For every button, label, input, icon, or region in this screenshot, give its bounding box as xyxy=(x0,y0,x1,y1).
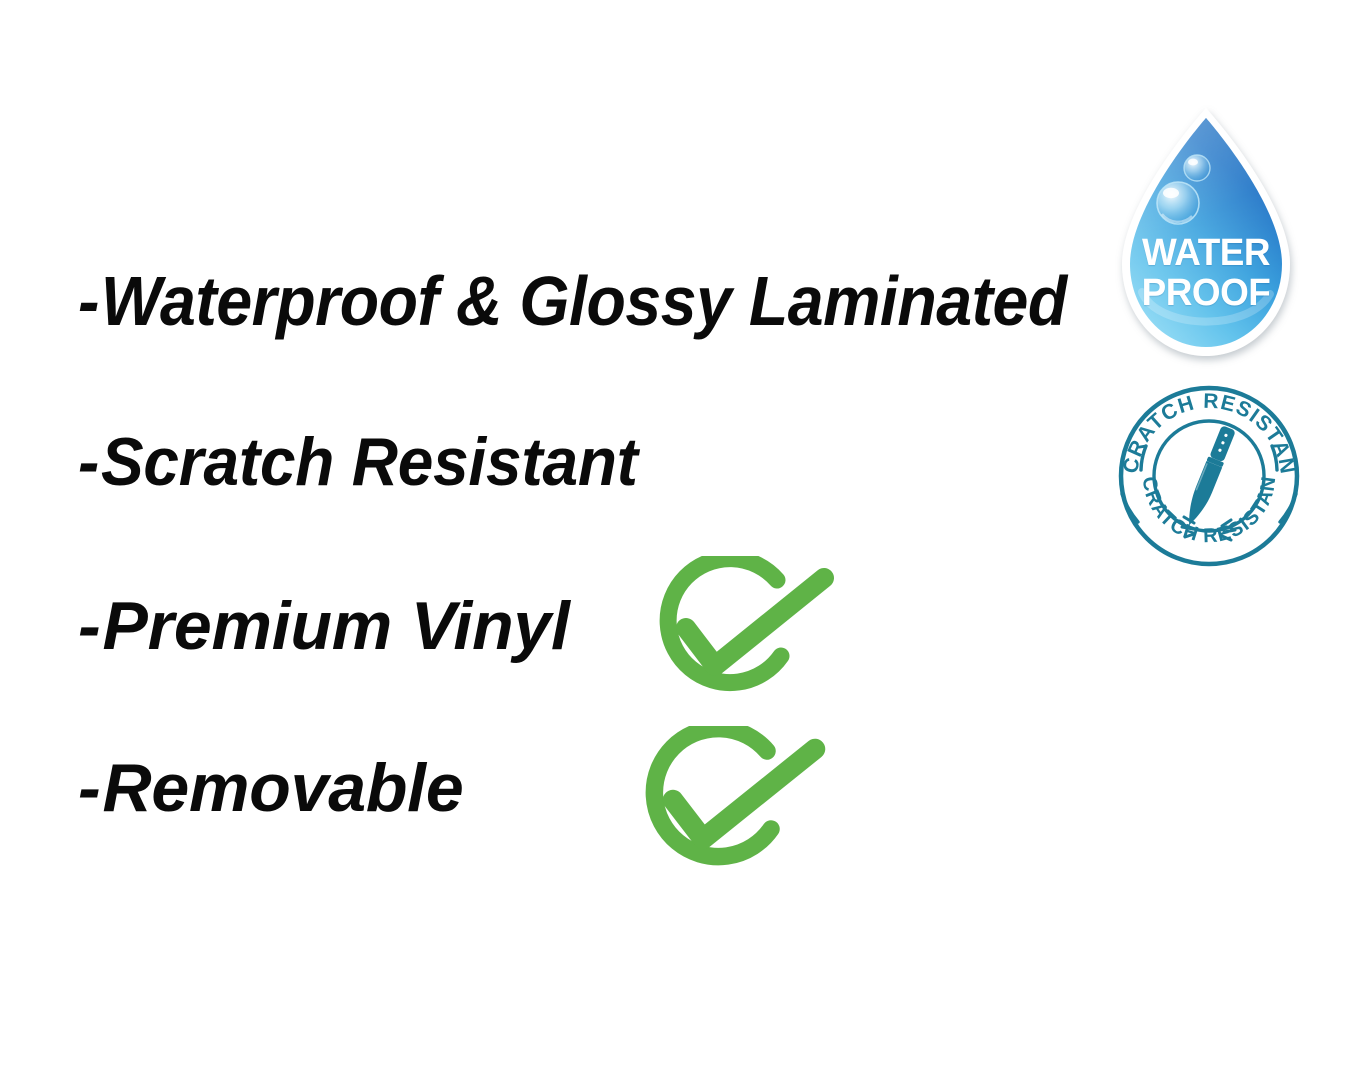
water-bubble-icon xyxy=(1184,155,1210,181)
feature-bullet-dash: - xyxy=(78,592,100,660)
knife-icon xyxy=(1182,425,1237,529)
feature-label: Waterproof & Glossy Laminated xyxy=(101,262,1067,340)
feature-item-removable: -Removable xyxy=(78,754,463,822)
waterproof-badge: WATER PROOF xyxy=(1106,104,1306,372)
feature-item-waterproof-glossy-laminated: -Waterproof & Glossy Laminated xyxy=(78,266,1067,336)
check-circle-icon-removable xyxy=(632,726,828,882)
water-bubble-icon xyxy=(1157,182,1199,224)
feature-item-scratch-resistant: -Scratch Resistant xyxy=(78,428,638,496)
feature-list: -Waterproof & Glossy Laminated -Scratch … xyxy=(0,0,1100,1080)
feature-bullet-dash: - xyxy=(78,266,99,336)
check-circle-icon xyxy=(646,556,836,708)
knife-stamp-icon: SCRATCH RESISTANT SCRATCH RESISTANT xyxy=(1114,382,1304,570)
check-mark xyxy=(686,578,824,666)
scratch-resistant-badge: SCRATCH RESISTANT SCRATCH RESISTANT xyxy=(1114,382,1304,570)
water-droplet-icon xyxy=(1106,104,1306,372)
check-mark xyxy=(673,749,815,839)
feature-label: Premium Vinyl xyxy=(102,588,569,664)
feature-label: Scratch Resistant xyxy=(101,424,638,500)
feature-label: Removable xyxy=(102,750,463,826)
check-circle-icon xyxy=(632,726,828,882)
feature-highlight-graphic: -Waterproof & Glossy Laminated -Scratch … xyxy=(0,0,1359,1080)
feature-item-premium-vinyl: -Premium Vinyl xyxy=(78,592,570,660)
check-circle-icon-premium-vinyl xyxy=(646,556,836,708)
feature-bullet-dash: - xyxy=(78,754,100,822)
feature-bullet-dash: - xyxy=(78,428,99,496)
